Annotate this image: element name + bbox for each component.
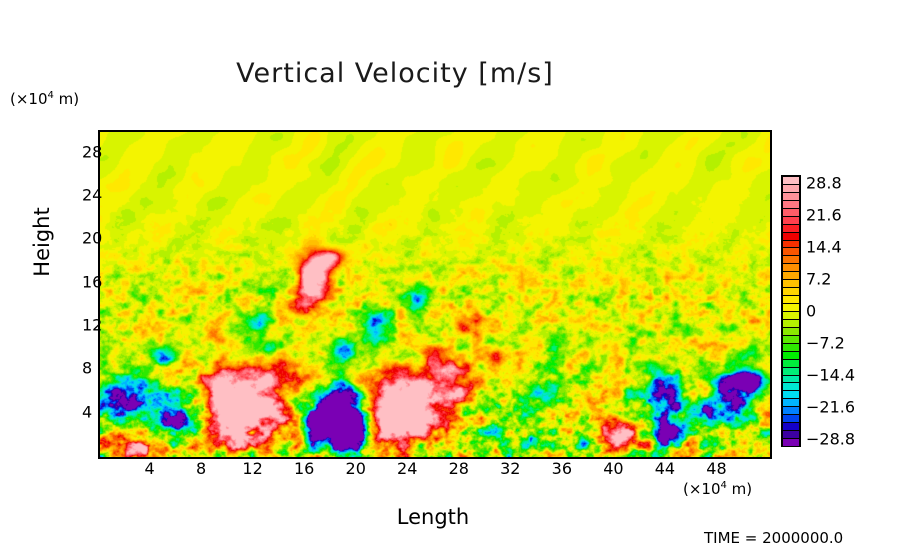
x-tick-36: 36	[552, 459, 572, 478]
colorbar-band-2	[783, 193, 799, 200]
colorbar-label-0: 28.8	[806, 174, 842, 193]
colorbar-label-4: 0	[806, 302, 816, 321]
colorbar-band-21	[783, 344, 799, 351]
x-tick-48: 48	[706, 459, 726, 478]
colorbar-band-5	[783, 217, 799, 224]
colorbar-band-33	[783, 439, 799, 446]
x-tick-12: 12	[242, 459, 262, 478]
velocity-field-heatmap	[100, 132, 770, 457]
x-axis-title: Length	[98, 505, 768, 529]
colorbar-band-23	[783, 360, 799, 367]
colorbar-band-1	[783, 185, 799, 192]
y-axis-unit-prefix: (×10	[10, 90, 48, 108]
colorbar-band-6	[783, 225, 799, 232]
x-axis-unit-prefix: (×10	[683, 480, 721, 498]
colorbar-band-32	[783, 431, 799, 438]
y-axis-unit: (×104 m)	[10, 90, 79, 108]
colorbar-label-7: −21.6	[806, 398, 855, 417]
colorbar-band-19	[783, 328, 799, 335]
colorbar-label-2: 14.4	[806, 238, 842, 257]
x-tick-40: 40	[603, 459, 623, 478]
x-tick-4: 4	[144, 459, 154, 478]
colorbar-band-24	[783, 368, 799, 375]
x-tick-8: 8	[196, 459, 206, 478]
colorbar-band-18	[783, 320, 799, 327]
y-axis-title: Height	[30, 182, 54, 302]
colorbar-band-17	[783, 312, 799, 319]
colorbar-band-13	[783, 280, 799, 287]
colorbar-band-11	[783, 264, 799, 271]
x-tick-24: 24	[397, 459, 417, 478]
colorbar-band-16	[783, 304, 799, 311]
colorbar-band-25	[783, 376, 799, 382]
x-tick-44: 44	[655, 459, 675, 478]
x-tick-32: 32	[500, 459, 520, 478]
colorbar-band-7	[783, 233, 799, 240]
page-title: Vertical Velocity [m/s]	[0, 58, 790, 89]
colorbar-band-20	[783, 336, 799, 343]
colorbar-band-0	[783, 177, 799, 184]
colorbar-band-4	[783, 209, 799, 216]
x-axis-unit-suffix: m)	[727, 480, 752, 498]
x-tick-28: 28	[449, 459, 469, 478]
x-axis-unit: (×104 m)	[683, 480, 752, 498]
colorbar-label-1: 21.6	[806, 206, 842, 225]
colorbar-label-6: −14.4	[806, 366, 855, 385]
colorbar-band-3	[783, 201, 799, 208]
plot-area[interactable]	[98, 130, 772, 459]
colorbar-label-3: 7.2	[806, 270, 831, 289]
colorbar-band-22	[783, 352, 799, 359]
colorbar-label-8: −28.8	[806, 430, 855, 449]
colorbar-band-31	[783, 423, 799, 430]
colorbar-label-5: −7.2	[806, 334, 845, 353]
colorbar-band-28	[783, 399, 799, 406]
colorbar[interactable]	[781, 175, 801, 447]
colorbar-band-14	[783, 288, 799, 295]
colorbar-band-30	[783, 415, 799, 422]
colorbar-band-12	[783, 272, 799, 279]
colorbar-band-26	[783, 383, 799, 390]
colorbar-band-29	[783, 407, 799, 414]
figure-canvas: Vertical Velocity [m/s] (×104 m) (×104 m…	[0, 0, 904, 544]
time-stamp: TIME = 2000000.0	[704, 529, 843, 547]
x-tick-16: 16	[294, 459, 314, 478]
x-tick-20: 20	[346, 459, 366, 478]
colorbar-band-9	[783, 248, 799, 255]
colorbar-band-10	[783, 256, 799, 263]
colorbar-band-27	[783, 391, 799, 398]
y-axis-unit-suffix: m)	[54, 90, 79, 108]
colorbar-band-8	[783, 241, 799, 247]
colorbar-band-15	[783, 296, 799, 303]
